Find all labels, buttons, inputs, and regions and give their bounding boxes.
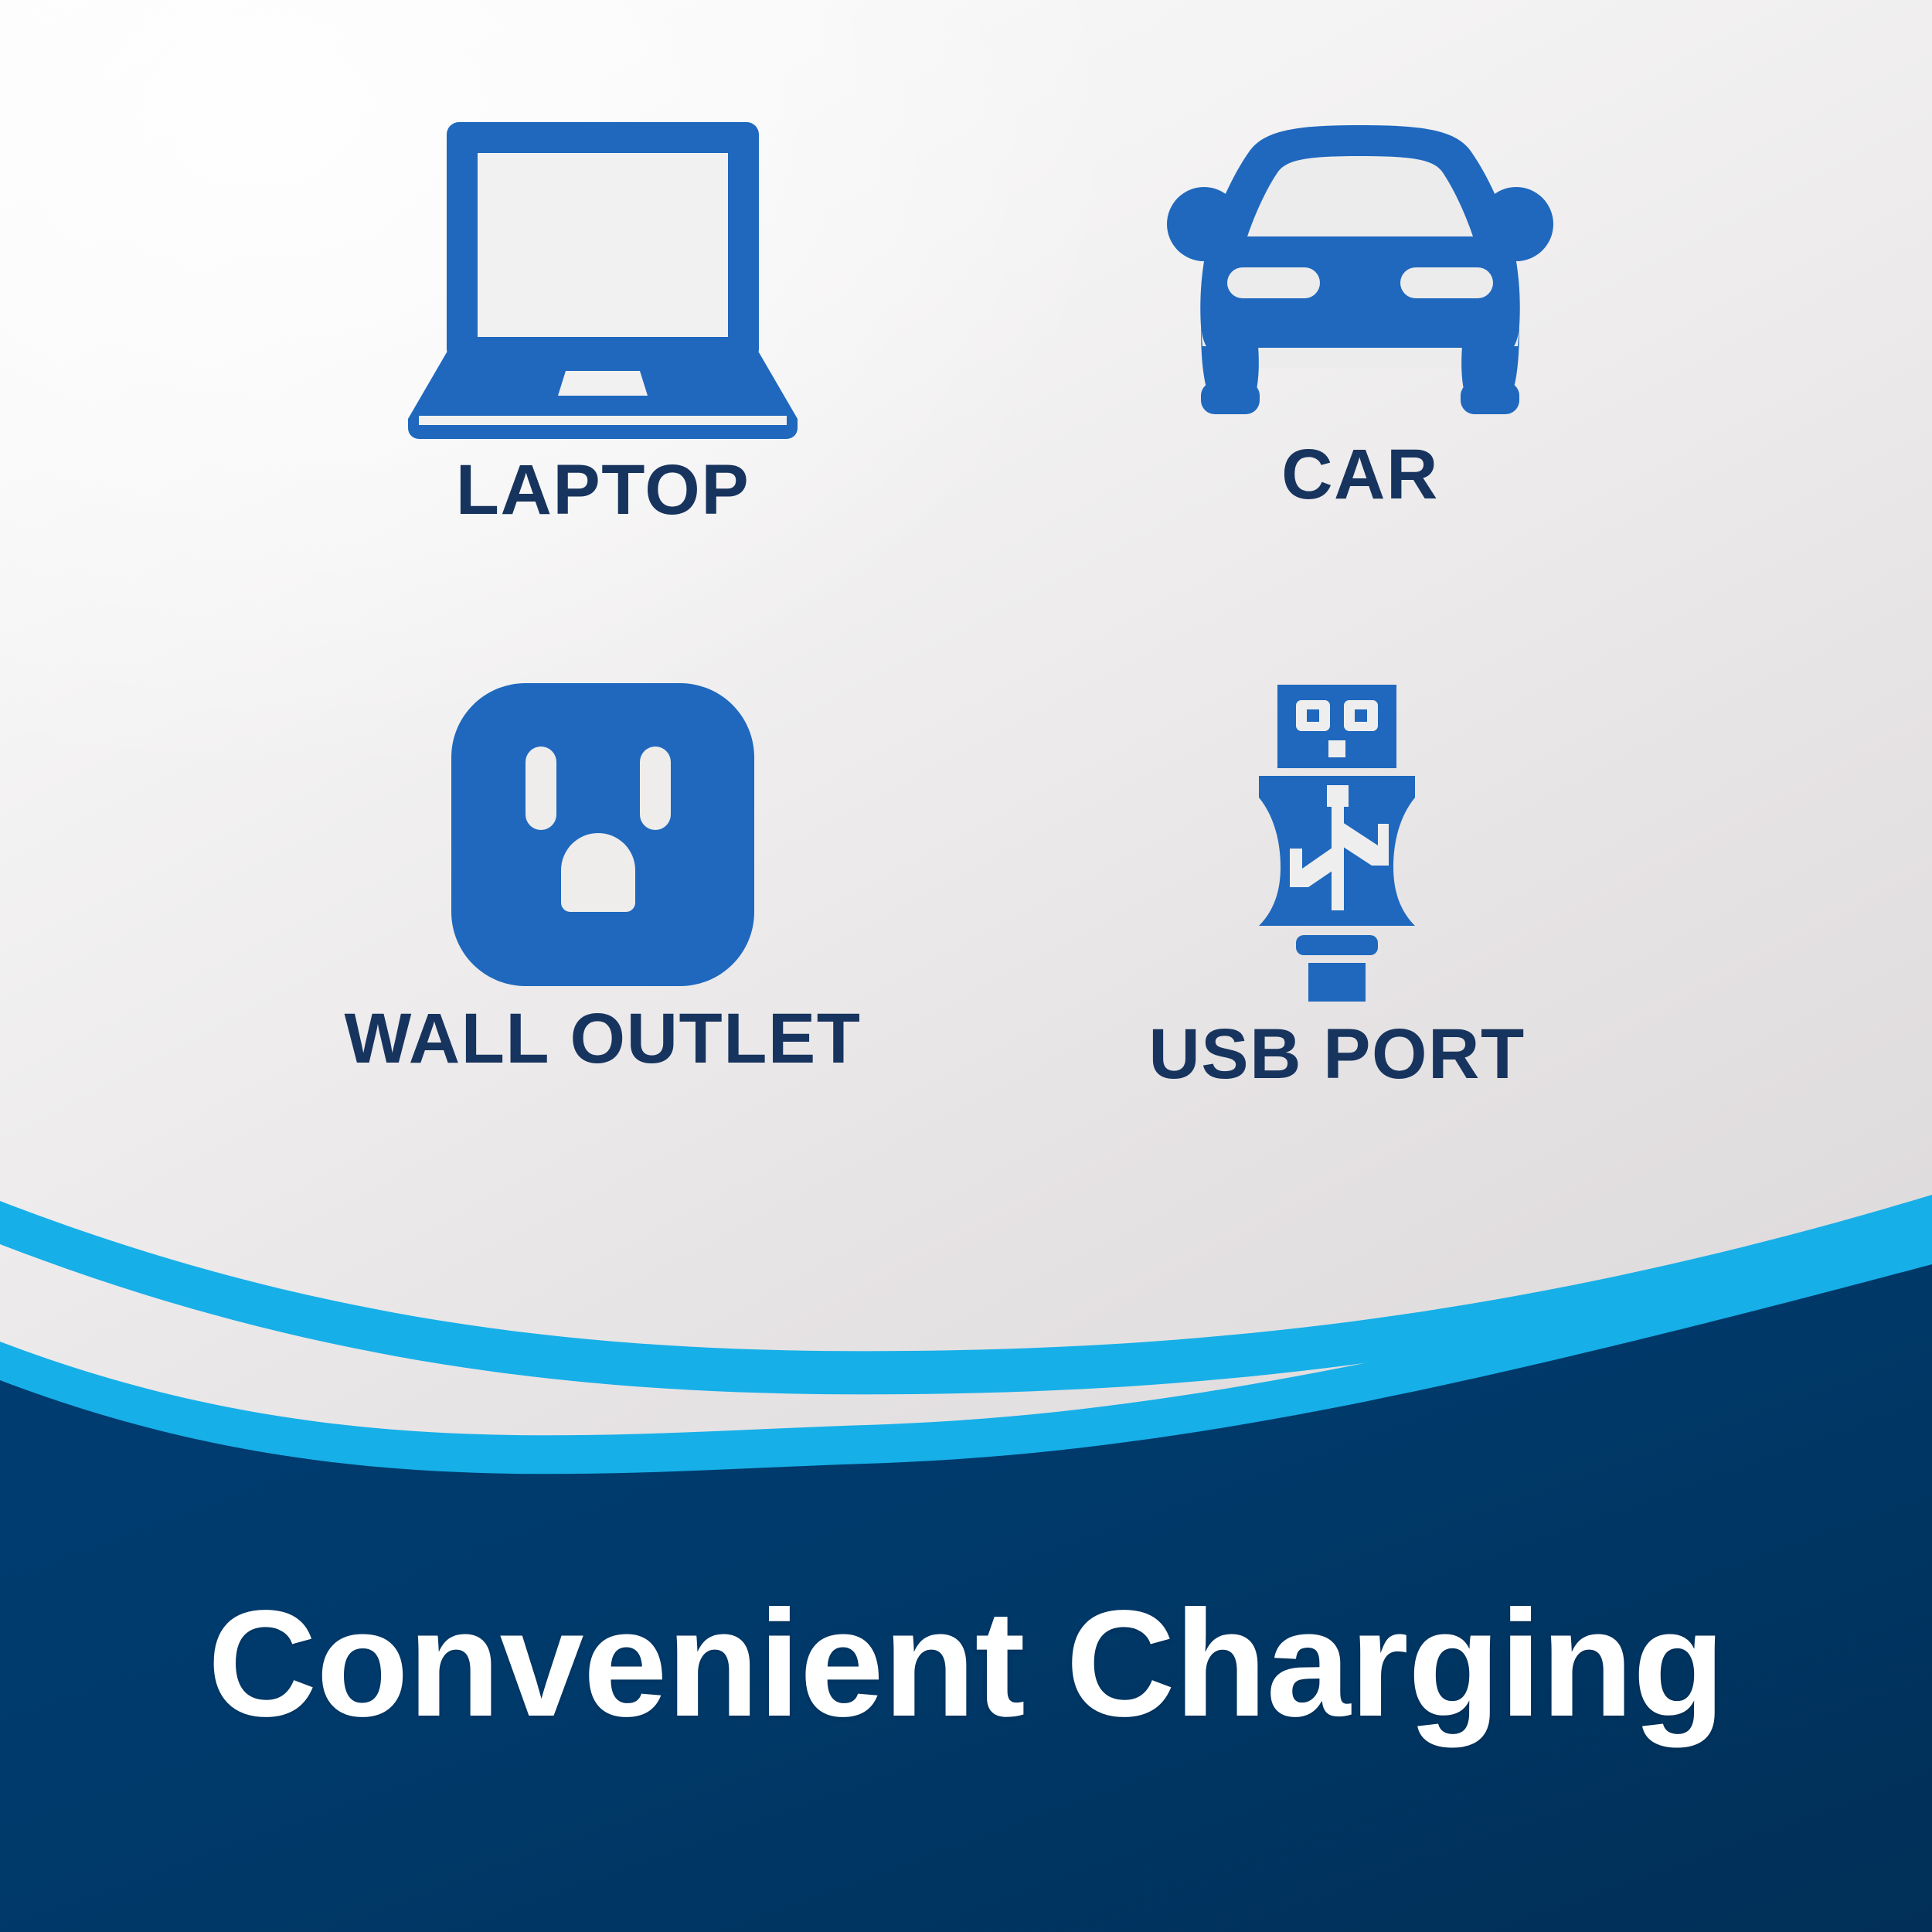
feature-laptop: LAPTOP <box>255 116 951 526</box>
feature-car: CAR <box>1012 116 1708 510</box>
feature-label-laptop: LAPTOP <box>456 454 750 526</box>
car-icon <box>1167 116 1553 425</box>
feature-usb-port: USB PORT <box>989 680 1685 1090</box>
feature-label-wall-outlet: WALL OUTLET <box>345 1003 862 1074</box>
product-infographic: LAPTOP <box>0 0 1932 1932</box>
feature-icon-grid: LAPTOP <box>0 0 1932 1206</box>
usb-plug-icon <box>1240 680 1434 1005</box>
banner-headline: Convenient Charging <box>0 1584 1932 1743</box>
laptop-icon <box>402 116 804 440</box>
feature-label-usb-port: USB PORT <box>1148 1019 1525 1090</box>
feature-label-car: CAR <box>1281 439 1439 510</box>
feature-wall-outlet: WALL OUTLET <box>193 680 1012 1074</box>
wave-divider <box>0 1190 1932 1932</box>
wall-outlet-icon <box>448 680 757 989</box>
